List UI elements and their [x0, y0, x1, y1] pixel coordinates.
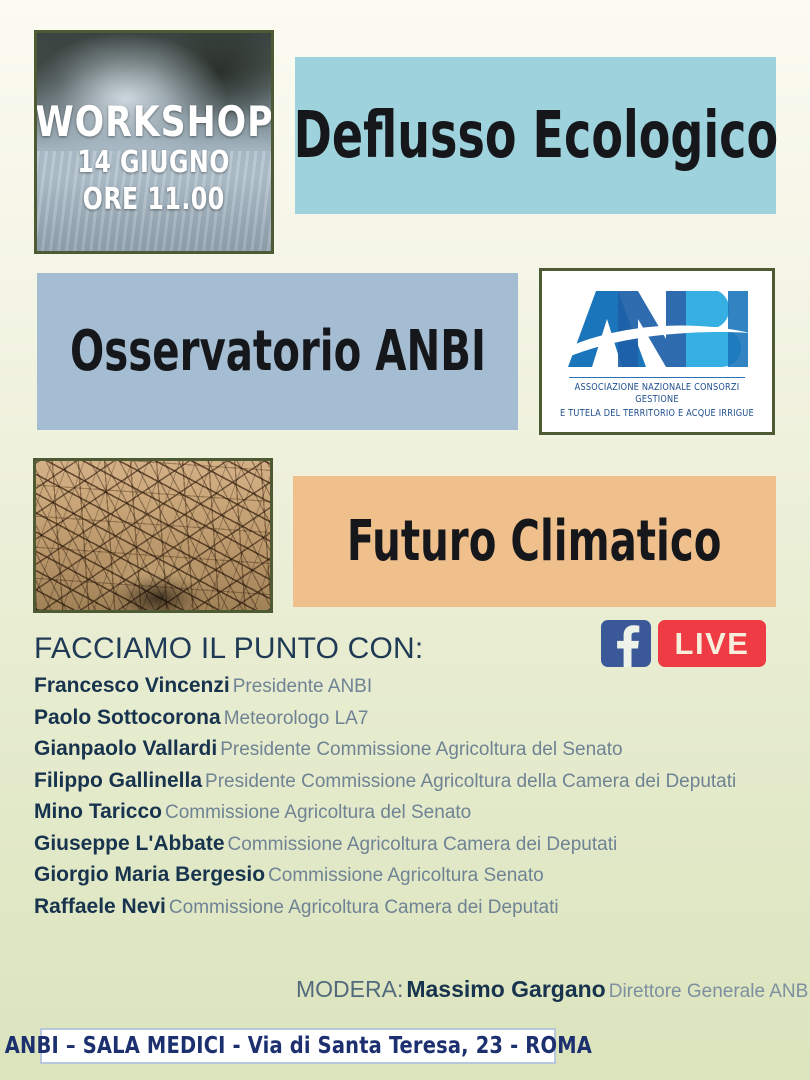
anbi-logo-box: ASSOCIAZIONE NAZIONALE CONSORZI GESTIONE…	[539, 268, 775, 435]
speaker-name: Filippo Gallinella	[34, 769, 202, 792]
speaker-row: Mino TariccoCommissione Agricoltura del …	[34, 801, 754, 822]
speaker-name: Raffaele Nevi	[34, 895, 166, 918]
workshop-photo-card: WORKSHOP 14 GIUGNO ORE 11.00	[34, 30, 274, 254]
speaker-role: Commissione Agricoltura Senato	[268, 865, 544, 886]
speaker-name: Giuseppe L'Abbate	[34, 832, 225, 855]
cracked-dry-earth-photo	[36, 461, 270, 610]
band-futuro-label: Futuro Climatico	[347, 514, 722, 570]
logo-caption-line1: ASSOCIAZIONE NAZIONALE CONSORZI GESTIONE	[554, 382, 759, 406]
speaker-name: Francesco Vincenzi	[34, 674, 230, 697]
speakers-heading: FACCIAMO IL PUNTO CON:	[34, 634, 754, 664]
moderator-name: Massimo Gargano	[406, 976, 605, 1002]
workshop-text-overlay: WORKSHOP 14 GIUGNO ORE 11.00	[37, 33, 271, 251]
speaker-role: Presidente Commissione Agricoltura della…	[205, 771, 736, 792]
speaker-role: Commissione Agricoltura del Senato	[165, 802, 471, 823]
band-osservatorio-anbi: Osservatorio ANBI	[37, 273, 518, 430]
speaker-role: Presidente Commissione Agricoltura del S…	[220, 739, 622, 760]
workshop-date: 14 GIUGNO	[78, 145, 230, 180]
speaker-name: Paolo Sottocorona	[34, 706, 221, 729]
speaker-role: Commissione Agricoltura Camera dei Deput…	[169, 897, 559, 918]
speakers-section: FACCIAMO IL PUNTO CON: Francesco Vincenz…	[34, 634, 754, 927]
moderator-role: Direttore Generale ANBI	[609, 981, 810, 1002]
moderator-label: MODERA:	[296, 976, 403, 1002]
event-poster: WORKSHOP 14 GIUGNO ORE 11.00 Deflusso Ec…	[0, 0, 810, 1080]
speaker-row: Paolo SottocoronaMeteorologo LA7	[34, 707, 754, 728]
speaker-name: Giorgio Maria Bergesio	[34, 863, 265, 886]
speaker-role: Meteorologo LA7	[224, 708, 369, 729]
speaker-row: Giorgio Maria BergesioCommissione Agrico…	[34, 864, 754, 885]
speaker-name: Mino Taricco	[34, 800, 162, 823]
speaker-role: Presidente ANBI	[233, 676, 372, 697]
speaker-row: Francesco VincenziPresidente ANBI	[34, 675, 754, 696]
speaker-row: Giuseppe L'AbbateCommissione Agricoltura…	[34, 833, 754, 854]
band-futuro-climatico: Futuro Climatico	[293, 476, 776, 607]
workshop-title: WORKSHOP	[35, 101, 273, 143]
speaker-name: Gianpaolo Vallardi	[34, 737, 217, 760]
drought-photo-card	[33, 458, 273, 613]
band-deflusso-label: Deflusso Ecologico	[293, 104, 778, 168]
moderator-line: MODERA:Massimo GarganoDirettore Generale…	[296, 978, 810, 1001]
anbi-logo-icon	[562, 283, 752, 375]
venue-address-bar: ANBI – SALA MEDICI - Via di Santa Teresa…	[40, 1028, 556, 1064]
speaker-row: Gianpaolo VallardiPresidente Commissione…	[34, 738, 754, 759]
speaker-role: Commissione Agricoltura Camera dei Deput…	[228, 834, 618, 855]
venue-address-text: ANBI – SALA MEDICI - Via di Santa Teresa…	[4, 1033, 591, 1059]
band-osservatorio-label: Osservatorio ANBI	[70, 324, 486, 380]
speaker-row: Filippo GallinellaPresidente Commissione…	[34, 770, 754, 791]
speaker-row: Raffaele NeviCommissione Agricoltura Cam…	[34, 896, 754, 917]
logo-caption-line2: E TUTELA DEL TERRITORIO E ACQUE IRRIGUE	[560, 408, 754, 420]
logo-divider	[569, 377, 745, 378]
workshop-time: ORE 11.00	[83, 182, 225, 217]
band-deflusso-ecologico: Deflusso Ecologico	[295, 57, 776, 214]
